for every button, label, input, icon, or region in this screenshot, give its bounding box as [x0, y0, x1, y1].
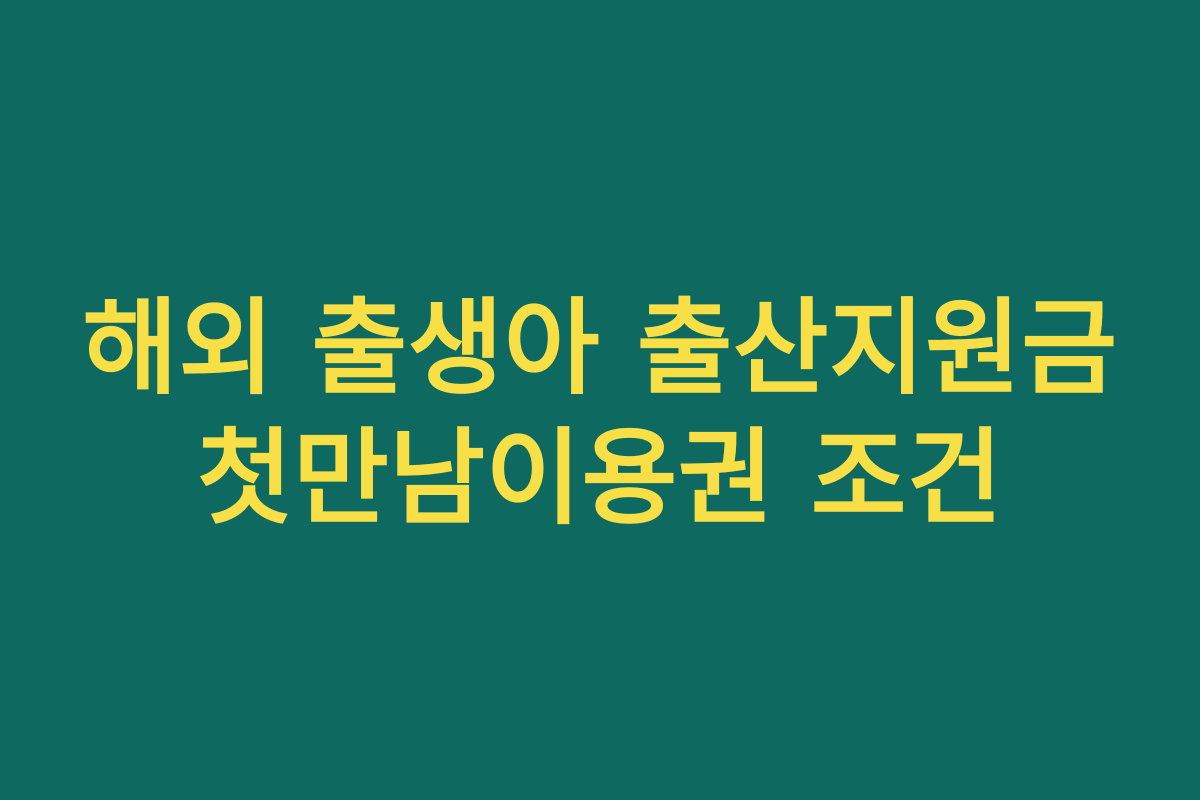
headline-block: 해외 출생아 출산지원금 첫만남이용권 조건 — [0, 283, 1200, 543]
banner-canvas: 해외 출생아 출산지원금 첫만남이용권 조건 — [0, 0, 1200, 800]
headline-line-2: 첫만남이용권 조건 — [24, 413, 1176, 543]
headline-line-1: 해외 출생아 출산지원금 — [24, 283, 1176, 413]
